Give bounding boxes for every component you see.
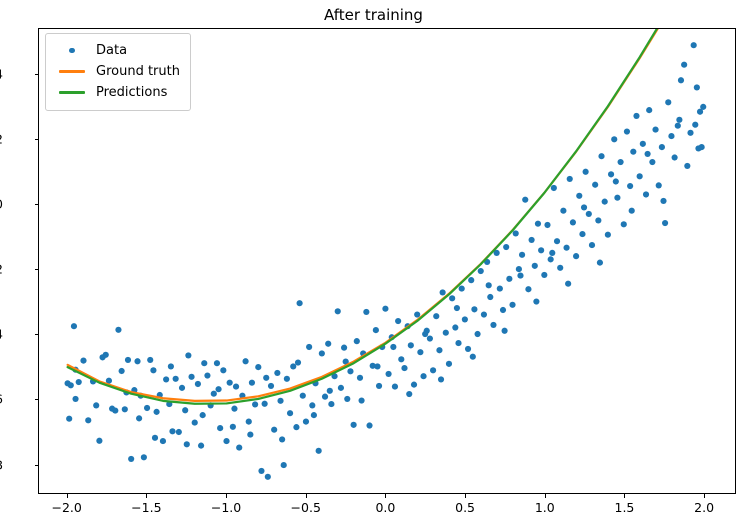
- legend-item-data[interactable]: Data: [54, 40, 182, 61]
- data-point: [645, 151, 651, 157]
- y-tick-label: −4: [0, 327, 3, 342]
- data-point: [506, 276, 512, 282]
- data-point: [646, 107, 652, 113]
- y-tick-label: −8: [0, 457, 3, 472]
- data-point: [659, 144, 665, 150]
- data-point: [277, 398, 283, 404]
- data-point: [414, 311, 420, 317]
- data-point: [519, 252, 525, 258]
- data-point: [354, 338, 360, 344]
- data-point: [169, 428, 175, 434]
- data-point: [173, 376, 179, 382]
- data-point: [327, 388, 333, 394]
- data-point: [433, 313, 439, 319]
- data-point: [509, 302, 515, 308]
- data-point: [560, 208, 566, 214]
- data-point: [502, 328, 508, 334]
- data-point: [188, 374, 194, 380]
- data-point: [487, 294, 493, 300]
- data-point: [141, 454, 147, 460]
- data-point: [452, 324, 458, 330]
- data-point: [66, 416, 72, 422]
- data-point: [201, 360, 207, 366]
- data-point: [468, 277, 474, 283]
- data-point: [230, 424, 236, 430]
- data-point: [344, 396, 350, 402]
- data-point: [85, 417, 91, 423]
- legend-item-ground-truth[interactable]: Ground truth: [54, 61, 182, 82]
- legend-marker-dot-icon: [69, 48, 75, 54]
- data-point: [513, 230, 519, 236]
- data-point: [532, 263, 538, 269]
- data-point: [544, 222, 550, 228]
- x-tick-label: −1.0: [211, 500, 241, 515]
- data-point: [691, 42, 697, 48]
- data-point: [255, 364, 261, 370]
- data-point: [134, 358, 140, 364]
- data-point: [395, 318, 401, 324]
- data-point: [93, 402, 99, 408]
- data-point: [486, 282, 492, 288]
- data-point: [376, 383, 382, 389]
- data-point: [382, 306, 388, 312]
- data-point: [406, 391, 412, 397]
- data-point: [611, 136, 617, 142]
- data-point: [311, 412, 317, 418]
- data-point: [613, 178, 619, 184]
- data-point: [627, 183, 633, 189]
- legend-key-0: [54, 48, 90, 54]
- data-point: [525, 286, 531, 292]
- data-point: [443, 330, 449, 336]
- data-point: [271, 427, 277, 433]
- y-tickmark: [35, 139, 39, 140]
- data-point: [576, 193, 582, 199]
- data-point: [687, 130, 693, 136]
- x-tickmark: [146, 494, 147, 498]
- data-point: [678, 77, 684, 83]
- y-tickmark: [35, 74, 39, 75]
- data-point: [152, 435, 158, 441]
- data-point: [533, 298, 539, 304]
- y-tick-label: −6: [0, 392, 3, 407]
- data-point: [358, 397, 364, 403]
- data-point: [119, 368, 125, 374]
- data-point: [392, 383, 398, 389]
- data-point: [284, 376, 290, 382]
- data-point: [198, 443, 204, 449]
- data-point: [535, 221, 541, 227]
- data-point: [192, 420, 198, 426]
- data-point: [184, 441, 190, 447]
- data-point: [115, 327, 121, 333]
- data-point: [478, 268, 484, 274]
- data-point: [76, 379, 82, 385]
- data-point: [316, 448, 322, 454]
- data-point: [398, 356, 404, 362]
- data-point: [112, 407, 118, 413]
- data-point: [217, 425, 223, 431]
- x-tickmark: [465, 494, 466, 498]
- data-point: [290, 363, 296, 369]
- data-point: [71, 323, 77, 329]
- data-point: [322, 394, 328, 400]
- data-point: [470, 354, 476, 360]
- x-tickmark: [226, 494, 227, 498]
- chart-legend: DataGround truthPredictions: [45, 33, 191, 111]
- data-point: [249, 380, 255, 386]
- page-title: After training: [0, 6, 747, 24]
- data-point: [200, 412, 206, 418]
- data-point: [557, 265, 563, 271]
- data-point: [465, 346, 471, 352]
- data-point: [357, 375, 363, 381]
- data-point: [265, 474, 271, 480]
- data-point: [629, 208, 635, 214]
- data-point: [204, 372, 210, 378]
- data-point: [481, 311, 487, 317]
- data-point: [449, 295, 455, 301]
- data-point: [306, 344, 312, 350]
- x-tickmark: [624, 494, 625, 498]
- data-point: [455, 340, 461, 346]
- data-point: [589, 242, 595, 248]
- data-point: [263, 375, 269, 381]
- data-point: [672, 154, 678, 160]
- data-point: [608, 171, 614, 177]
- data-point: [567, 176, 573, 182]
- data-point: [68, 382, 74, 388]
- data-point: [195, 381, 201, 387]
- x-tick-label: 1.5: [614, 500, 634, 515]
- data-point: [605, 232, 611, 238]
- legend-label: Data: [96, 43, 127, 58]
- y-tick-label: −2: [0, 262, 3, 277]
- data-point: [446, 361, 452, 367]
- data-point: [227, 380, 233, 386]
- data-point: [136, 415, 142, 421]
- data-point: [597, 260, 603, 266]
- y-tickmark: [35, 334, 39, 335]
- data-point: [700, 104, 706, 110]
- data-point: [500, 307, 506, 313]
- data-point: [287, 410, 293, 416]
- data-point: [549, 250, 555, 256]
- data-point: [147, 357, 153, 363]
- data-point: [281, 462, 287, 468]
- y-tick-label: 2: [0, 131, 3, 146]
- x-tickmark: [67, 494, 68, 498]
- data-point: [80, 358, 86, 364]
- data-point: [598, 153, 604, 159]
- data-point: [541, 272, 547, 278]
- x-tick-label: 1.0: [535, 500, 555, 515]
- data-point: [297, 300, 303, 306]
- data-point: [303, 419, 309, 425]
- data-point: [516, 266, 522, 272]
- legend-marker-line-icon: [59, 91, 85, 94]
- data-point: [160, 438, 166, 444]
- data-point: [614, 195, 620, 201]
- data-point: [660, 198, 666, 204]
- data-point: [374, 363, 380, 369]
- data-point: [643, 191, 649, 197]
- data-point: [471, 306, 477, 312]
- data-point: [347, 368, 353, 374]
- data-point: [662, 220, 668, 226]
- data-point: [602, 199, 608, 205]
- figure-canvas: After training 420−2−4−6−8 −2.0−1.5−1.0−…: [0, 0, 747, 528]
- data-point: [459, 285, 465, 291]
- data-point: [621, 221, 627, 227]
- data-point: [258, 468, 264, 474]
- x-tick-label: −2.0: [51, 500, 81, 515]
- data-point: [328, 401, 334, 407]
- legend-marker-line-icon: [59, 70, 85, 73]
- data-point: [595, 217, 601, 223]
- data-point: [373, 327, 379, 333]
- data-point: [438, 376, 444, 382]
- data-point: [295, 359, 301, 365]
- data-point: [223, 438, 229, 444]
- data-point: [637, 173, 643, 179]
- data-point: [150, 367, 156, 373]
- x-tick-label: 0.0: [375, 500, 395, 515]
- data-point: [351, 422, 357, 428]
- legend-item-predictions[interactable]: Predictions: [54, 82, 182, 103]
- data-point: [565, 281, 571, 287]
- data-point: [462, 316, 468, 322]
- data-point: [422, 331, 428, 337]
- data-point: [430, 367, 436, 373]
- data-point: [548, 256, 554, 262]
- y-tick-label: 0: [0, 196, 3, 211]
- data-point: [676, 117, 682, 123]
- data-point: [586, 211, 592, 217]
- data-point: [427, 335, 433, 341]
- y-tickmark: [35, 269, 39, 270]
- legend-label: Predictions: [96, 85, 167, 100]
- data-point: [144, 405, 150, 411]
- data-point: [385, 371, 391, 377]
- data-point: [497, 285, 503, 291]
- data-point: [215, 386, 221, 392]
- data-point: [649, 159, 655, 165]
- data-point: [554, 238, 560, 244]
- legend-key-1: [54, 70, 90, 73]
- data-point: [325, 341, 331, 347]
- data-point: [252, 401, 258, 407]
- y-tick-label: 4: [0, 66, 3, 81]
- data-point: [684, 163, 690, 169]
- data-point: [214, 360, 220, 366]
- data-point: [236, 444, 242, 450]
- data-point: [211, 391, 217, 397]
- x-tickmark: [704, 494, 705, 498]
- data-point: [176, 429, 182, 435]
- data-point: [231, 406, 237, 412]
- data-point: [573, 253, 579, 259]
- x-tickmark: [385, 494, 386, 498]
- data-point: [335, 308, 341, 314]
- data-point: [474, 331, 480, 337]
- data-point: [581, 204, 587, 210]
- data-point: [630, 149, 636, 155]
- data-point: [319, 350, 325, 356]
- data-point: [262, 401, 268, 407]
- data-point: [675, 123, 681, 129]
- data-point: [128, 456, 134, 462]
- data-point: [274, 370, 280, 376]
- data-point: [72, 396, 78, 402]
- y-tickmark: [35, 204, 39, 205]
- y-tickmark: [35, 465, 39, 466]
- data-point: [154, 409, 160, 415]
- x-tick-label: 0.5: [455, 500, 475, 515]
- data-point: [563, 245, 569, 251]
- data-point: [417, 349, 423, 355]
- data-point: [179, 385, 185, 391]
- data-point: [242, 358, 248, 364]
- data-point: [583, 169, 589, 175]
- data-point: [233, 383, 239, 389]
- data-point: [408, 342, 414, 348]
- data-point: [440, 289, 446, 295]
- data-point: [529, 237, 535, 243]
- data-point: [579, 231, 585, 237]
- data-point: [681, 62, 687, 68]
- data-point: [185, 352, 191, 358]
- x-tickmark: [545, 494, 546, 498]
- data-point: [96, 438, 102, 444]
- data-point: [309, 402, 315, 408]
- data-point: [103, 352, 109, 358]
- data-point: [341, 345, 347, 351]
- data-point: [168, 363, 174, 369]
- data-point: [436, 347, 442, 353]
- data-point: [503, 244, 509, 250]
- x-tickmark: [306, 494, 307, 498]
- data-point: [454, 305, 460, 311]
- data-point: [699, 144, 705, 150]
- data-point: [570, 219, 576, 225]
- data-point: [538, 247, 544, 253]
- data-point: [490, 322, 496, 328]
- x-tick-label: −1.5: [131, 500, 161, 515]
- data-point: [366, 422, 372, 428]
- data-point: [125, 357, 131, 363]
- y-tickmark: [35, 399, 39, 400]
- data-point: [420, 373, 426, 379]
- data-point: [517, 273, 523, 279]
- data-point: [668, 133, 674, 139]
- data-point: [390, 344, 396, 350]
- data-point: [551, 185, 557, 191]
- data-point: [300, 393, 306, 399]
- data-point: [220, 367, 226, 373]
- data-point: [633, 113, 639, 119]
- data-point: [624, 128, 630, 134]
- x-tick-label: −0.5: [291, 500, 321, 515]
- data-point: [401, 365, 407, 371]
- data-point: [665, 99, 671, 105]
- data-point: [182, 407, 188, 413]
- x-tick-label: 2.0: [694, 500, 714, 515]
- data-point: [692, 122, 698, 128]
- data-point: [122, 406, 128, 412]
- data-point: [338, 385, 344, 391]
- data-point: [522, 197, 528, 203]
- legend-label: Ground truth: [96, 64, 180, 79]
- data-point: [694, 84, 700, 90]
- data-point: [246, 419, 252, 425]
- data-point: [268, 383, 274, 389]
- data-point: [247, 432, 253, 438]
- data-point: [279, 436, 285, 442]
- data-point: [652, 126, 658, 132]
- data-point: [293, 424, 299, 430]
- data-point: [411, 382, 417, 388]
- legend-key-2: [54, 91, 90, 94]
- data-point: [640, 141, 646, 147]
- data-point: [363, 309, 369, 315]
- data-point: [617, 159, 623, 165]
- data-point: [163, 376, 169, 382]
- data-point: [592, 182, 598, 188]
- data-point: [656, 182, 662, 188]
